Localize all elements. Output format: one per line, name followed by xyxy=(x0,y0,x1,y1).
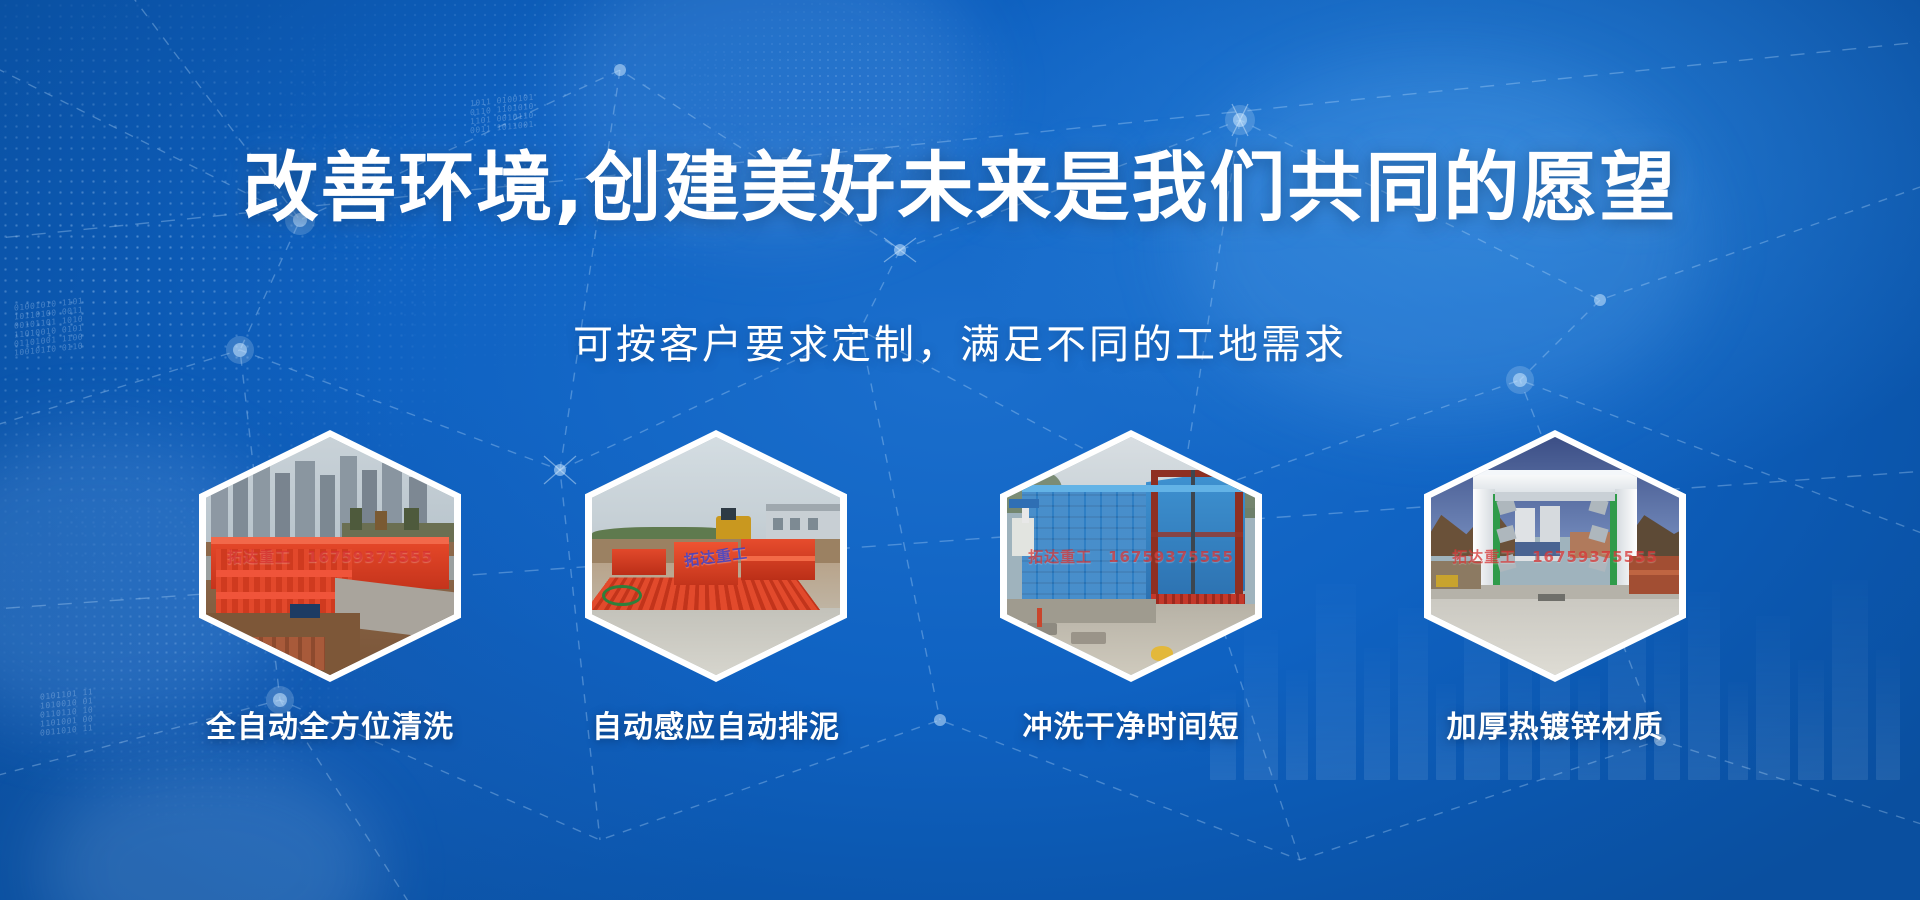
photo-grate-platform xyxy=(592,437,840,675)
hexagon-frame: 拓达重工 16759375555 xyxy=(1424,430,1686,682)
feature-card-caption: 冲洗干净时间短 xyxy=(1000,702,1262,746)
photo-gantry-washer xyxy=(1431,437,1679,675)
feature-card-caption: 加厚热镀锌材质 xyxy=(1424,702,1686,746)
photo-wheel-washer-red xyxy=(206,437,454,675)
feature-card[interactable]: 拓达重工 16759375555 加厚热镀锌材质 xyxy=(1424,430,1686,682)
hexagon-photo-clip: 拓达重工 16759375555 xyxy=(206,437,454,675)
photo-blue-tunnel-shed xyxy=(1007,437,1255,675)
hexagon-photo-clip: 拓达重工 16759375555 xyxy=(1007,437,1255,675)
hexagon-frame: 拓达重工 16759375555 xyxy=(1000,430,1262,682)
feature-card-caption: 自动感应自动排泥 xyxy=(585,702,847,746)
hexagon-photo-clip: 拓达重工 xyxy=(592,437,840,675)
promo-banner: 01001010 1101 10110100 0011 00101101 101… xyxy=(0,0,1920,900)
feature-card[interactable]: 拓达重工 自动感应自动排泥 xyxy=(585,430,847,682)
feature-card[interactable]: 拓达重工 16759375555 全自动全方位清洗 xyxy=(199,430,461,682)
hexagon-frame: 拓达重工 16759375555 xyxy=(199,430,461,682)
page-title: 改善环境,创建美好未来是我们共同的愿望 xyxy=(0,150,1920,226)
feature-card-caption: 全自动全方位清洗 xyxy=(199,702,461,746)
page-subtitle: 可按客户要求定制，满足不同的工地需求 xyxy=(0,325,1920,365)
feature-card-list: 拓达重工 16759375555 全自动全方位清洗 xyxy=(0,430,1920,760)
hexagon-photo-clip: 拓达重工 16759375555 xyxy=(1431,437,1679,675)
hexagon-frame: 拓达重工 xyxy=(585,430,847,682)
feature-card[interactable]: 拓达重工 16759375555 冲洗干净时间短 xyxy=(1000,430,1262,682)
